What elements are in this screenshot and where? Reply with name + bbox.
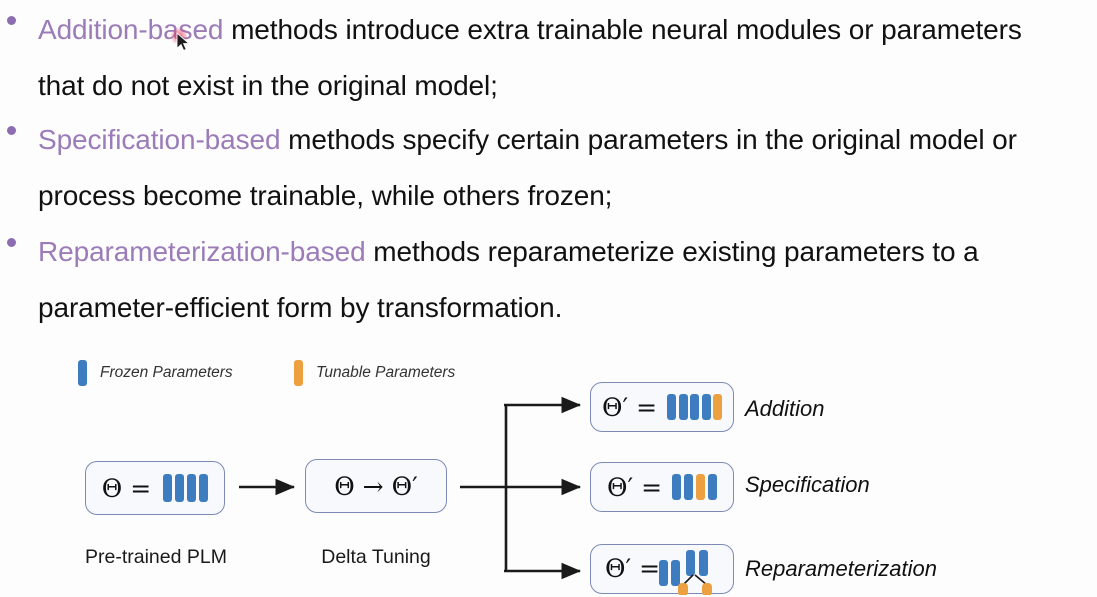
- node-reparameterization-formula: Θ′ =: [605, 556, 660, 581]
- delta-tuning-diagram: Frozen Parameters Tunable Parameters: [0, 0, 1097, 597]
- frozen-bar-icon: [690, 394, 699, 420]
- frozen-bar-icon: [708, 474, 717, 500]
- caption-delta-tuning: Delta Tuning: [305, 546, 447, 569]
- tunable-bar-icon: [713, 394, 722, 420]
- branch-label-addition: Addition: [745, 396, 825, 422]
- frozen-bar-icon: [199, 474, 208, 502]
- frozen-bar-icon: [684, 474, 693, 500]
- parameter-bars-addition: [667, 394, 722, 420]
- parameter-bars-pretrained: [163, 474, 208, 502]
- node-specification: Θ′ =: [590, 462, 734, 512]
- parameter-bars-specification: [672, 474, 717, 500]
- frozen-bar-icon: [667, 394, 676, 420]
- tunable-bar-icon: [696, 474, 705, 500]
- node-reparameterization: Θ′ =: [590, 544, 734, 594]
- frozen-bar-icon: [187, 474, 196, 502]
- node-specification-formula: Θ′ =: [607, 475, 662, 500]
- frozen-bar-icon: [679, 394, 688, 420]
- frozen-bar-icon: [659, 560, 668, 586]
- frozen-bar-icon: [672, 474, 681, 500]
- node-delta-tuning-formula: Θ → Θ′: [334, 474, 418, 499]
- frozen-bar-icon: [163, 474, 172, 502]
- branch-label-specification: Specification: [745, 472, 870, 498]
- branch-label-reparameterization: Reparameterization: [745, 556, 937, 582]
- caption-pretrained-plm: Pre-trained PLM: [85, 546, 225, 569]
- node-addition-formula: Θ′ =: [602, 395, 657, 420]
- node-addition: Θ′ =: [590, 382, 734, 432]
- node-addition-content: Θ′ =: [602, 394, 722, 420]
- node-reparameterization-content: Θ′ =: [591, 545, 733, 593]
- frozen-bar-icon: [175, 474, 184, 502]
- reparameterization-decomposition-icon: [677, 573, 721, 595]
- node-pretrained-plm-formula: Θ =: [102, 476, 151, 501]
- node-pretrained-plm: Θ =: [85, 461, 225, 515]
- node-delta-tuning: Θ → Θ′: [305, 459, 447, 513]
- frozen-bar-icon: [702, 394, 711, 420]
- slide-canvas: Addition-based methods introduce extra t…: [0, 0, 1097, 597]
- node-pretrained-plm-content: Θ =: [102, 474, 208, 502]
- node-specification-content: Θ′ =: [607, 474, 717, 500]
